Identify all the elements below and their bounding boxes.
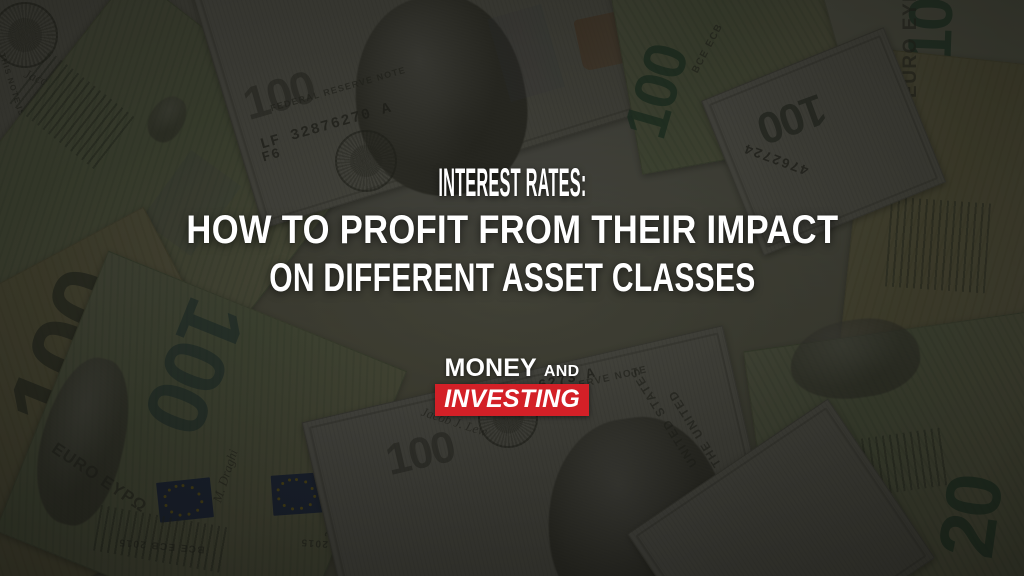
brand-logo-top-row: MONEY AND [445,356,580,381]
brand-logo-and-word: AND [544,364,580,380]
headline-line-1: INTEREST RATES: [357,160,667,208]
banner-content: INTEREST RATES: HOW TO PROFIT FROM THEIR… [0,0,1024,576]
hero-banner: THIS NOTE IS LEGAL TENDER Jacob J. Lew L… [0,0,1024,576]
brand-logo-investing-word: INVESTING [444,387,580,412]
brand-logo-money-word: MONEY [445,356,537,381]
headline-line-3: ON DIFFERENT ASSET CLASSES [229,255,795,303]
page-title: INTEREST RATES: HOW TO PROFIT FROM THEIR… [135,160,890,303]
headline-line-2: HOW TO PROFIT FROM THEIR IMPACT [186,207,838,255]
brand-logo[interactable]: MONEY AND INVESTING [435,356,589,416]
brand-logo-red-banner: INVESTING [435,384,589,416]
